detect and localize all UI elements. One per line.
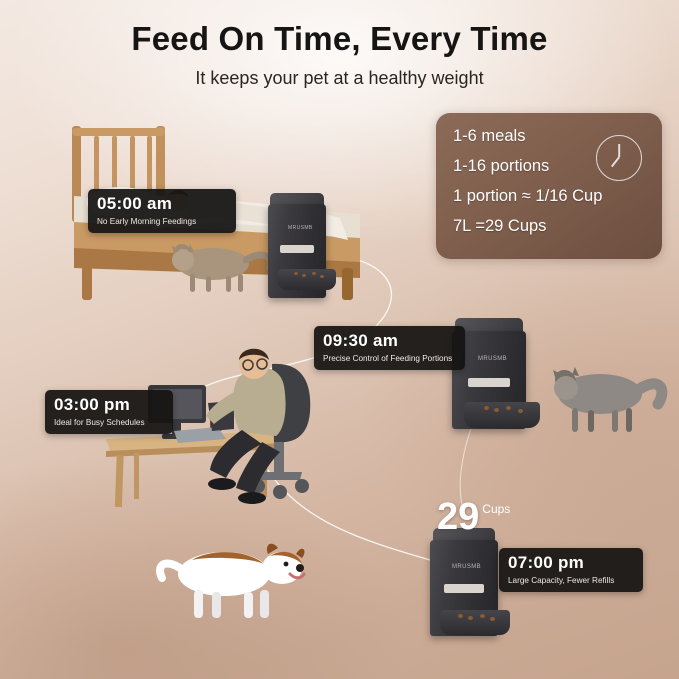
spec-line-capacity: 7L =29 Cups — [453, 217, 546, 236]
device-brand-label-2: MRUSMB — [478, 356, 507, 362]
pet-feeder-device-2: MRUSMB — [452, 318, 542, 443]
callout-desc-0500am: No Early Morning Feedings — [97, 217, 227, 226]
spec-line-portions: 1-16 portions — [453, 157, 549, 176]
callout-0300pm: 03:00 pm Ideal for Busy Schedules — [45, 390, 173, 434]
callout-0700pm: 07:00 pm Large Capacity, Fewer Refills — [499, 548, 643, 592]
pet-feeder-device-1: MRUSMB — [268, 193, 336, 303]
callout-time-0930am: 09:30 am — [323, 332, 456, 350]
infographic-page: Feed On Time, Every Time It keeps your p… — [0, 0, 679, 679]
callout-desc-0300pm: Ideal for Busy Schedules — [54, 418, 164, 427]
callout-0500am: 05:00 am No Early Morning Feedings — [88, 189, 236, 233]
callout-desc-0930am: Precise Control of Feeding Portions — [323, 354, 456, 363]
callout-time-0300pm: 03:00 pm — [54, 396, 164, 414]
callout-time-0500am: 05:00 am — [97, 195, 227, 213]
cat-longhair-illustration — [542, 362, 672, 442]
capacity-number: 29 — [437, 496, 479, 538]
clock-icon — [596, 135, 642, 181]
spec-line-portion-size: 1 portion ≈ 1/16 Cup — [453, 187, 602, 206]
device-brand-label-1: MRUSMB — [288, 225, 313, 231]
page-title: Feed On Time, Every Time — [0, 20, 679, 58]
capacity-unit: Cups — [482, 502, 510, 516]
device-brand-label-3: MRUSMB — [452, 564, 481, 570]
specs-card: 1-6 meals 1-16 portions 1 portion ≈ 1/16… — [436, 113, 662, 259]
callout-desc-0700pm: Large Capacity, Fewer Refills — [508, 576, 634, 585]
page-subtitle: It keeps your pet at a healthy weight — [0, 68, 679, 89]
capacity-badge: 29Cups — [437, 498, 510, 536]
dog-illustration — [152, 540, 332, 630]
callout-time-0700pm: 07:00 pm — [508, 554, 634, 572]
spec-line-meals: 1-6 meals — [453, 127, 525, 146]
callout-0930am: 09:30 am Precise Control of Feeding Port… — [314, 326, 465, 370]
